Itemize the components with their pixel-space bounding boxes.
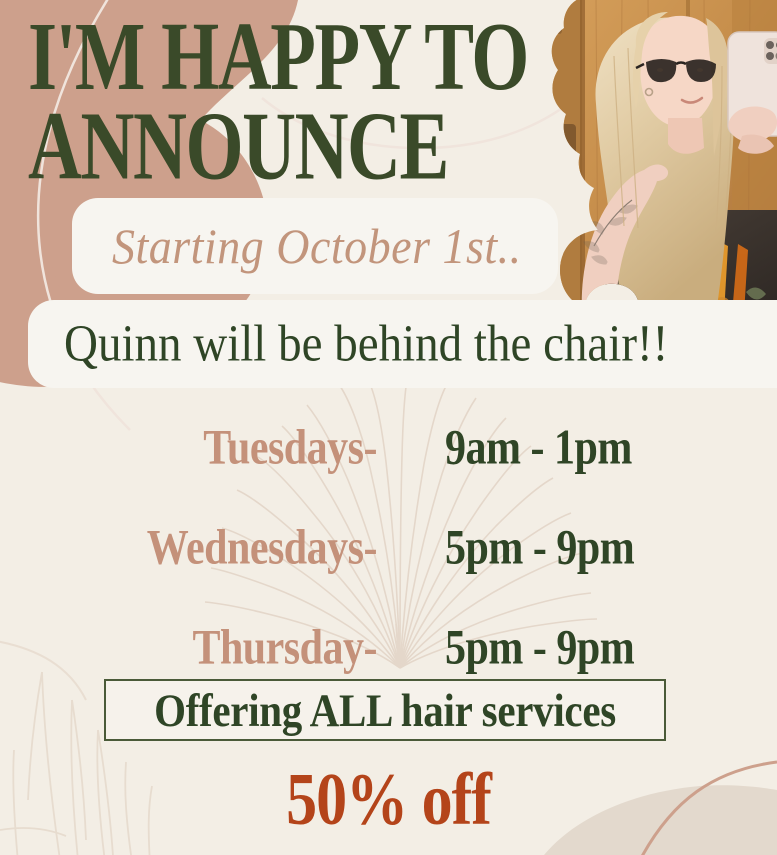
discount-text: 50% off <box>0 758 777 843</box>
schedule-time-value: 9am - 1pm <box>445 420 632 477</box>
schedule-row: Wednesdays- 5pm - 9pm <box>0 498 777 598</box>
profile-photo <box>536 0 777 314</box>
schedule-row: Tuesdays- 9am - 1pm <box>0 398 777 498</box>
announcement-flyer: I'M HAPPY TO ANNOUNCE Starting October 1… <box>0 0 777 855</box>
main-message-text: Quinn will be behind the chair!! <box>64 314 668 373</box>
subtitle-text: Starting October 1st.. <box>112 217 522 274</box>
page-title: I'M HAPPY TO ANNOUNCE <box>28 12 552 190</box>
schedule-list: Tuesdays- 9am - 1pm Wednesdays- 5pm - 9p… <box>0 398 777 698</box>
services-note-box: Offering ALL hair services <box>104 679 666 741</box>
main-message-banner: Quinn will be behind the chair!! <box>28 300 777 388</box>
schedule-day-label: Thursday- <box>192 620 377 677</box>
schedule-time-value: 5pm - 9pm <box>445 620 634 677</box>
subtitle-banner: Starting October 1st.. <box>72 198 558 294</box>
profile-photo-illustration <box>536 0 777 314</box>
schedule-day-label: Wednesdays- <box>147 520 377 577</box>
headline-line-1: I'M HAPPY TO <box>28 12 552 101</box>
schedule-day-label: Tuesdays- <box>203 420 377 477</box>
schedule-time-value: 5pm - 9pm <box>445 520 634 577</box>
headline-line-2: ANNOUNCE <box>28 101 552 190</box>
services-note-text: Offering ALL hair services <box>154 683 616 738</box>
